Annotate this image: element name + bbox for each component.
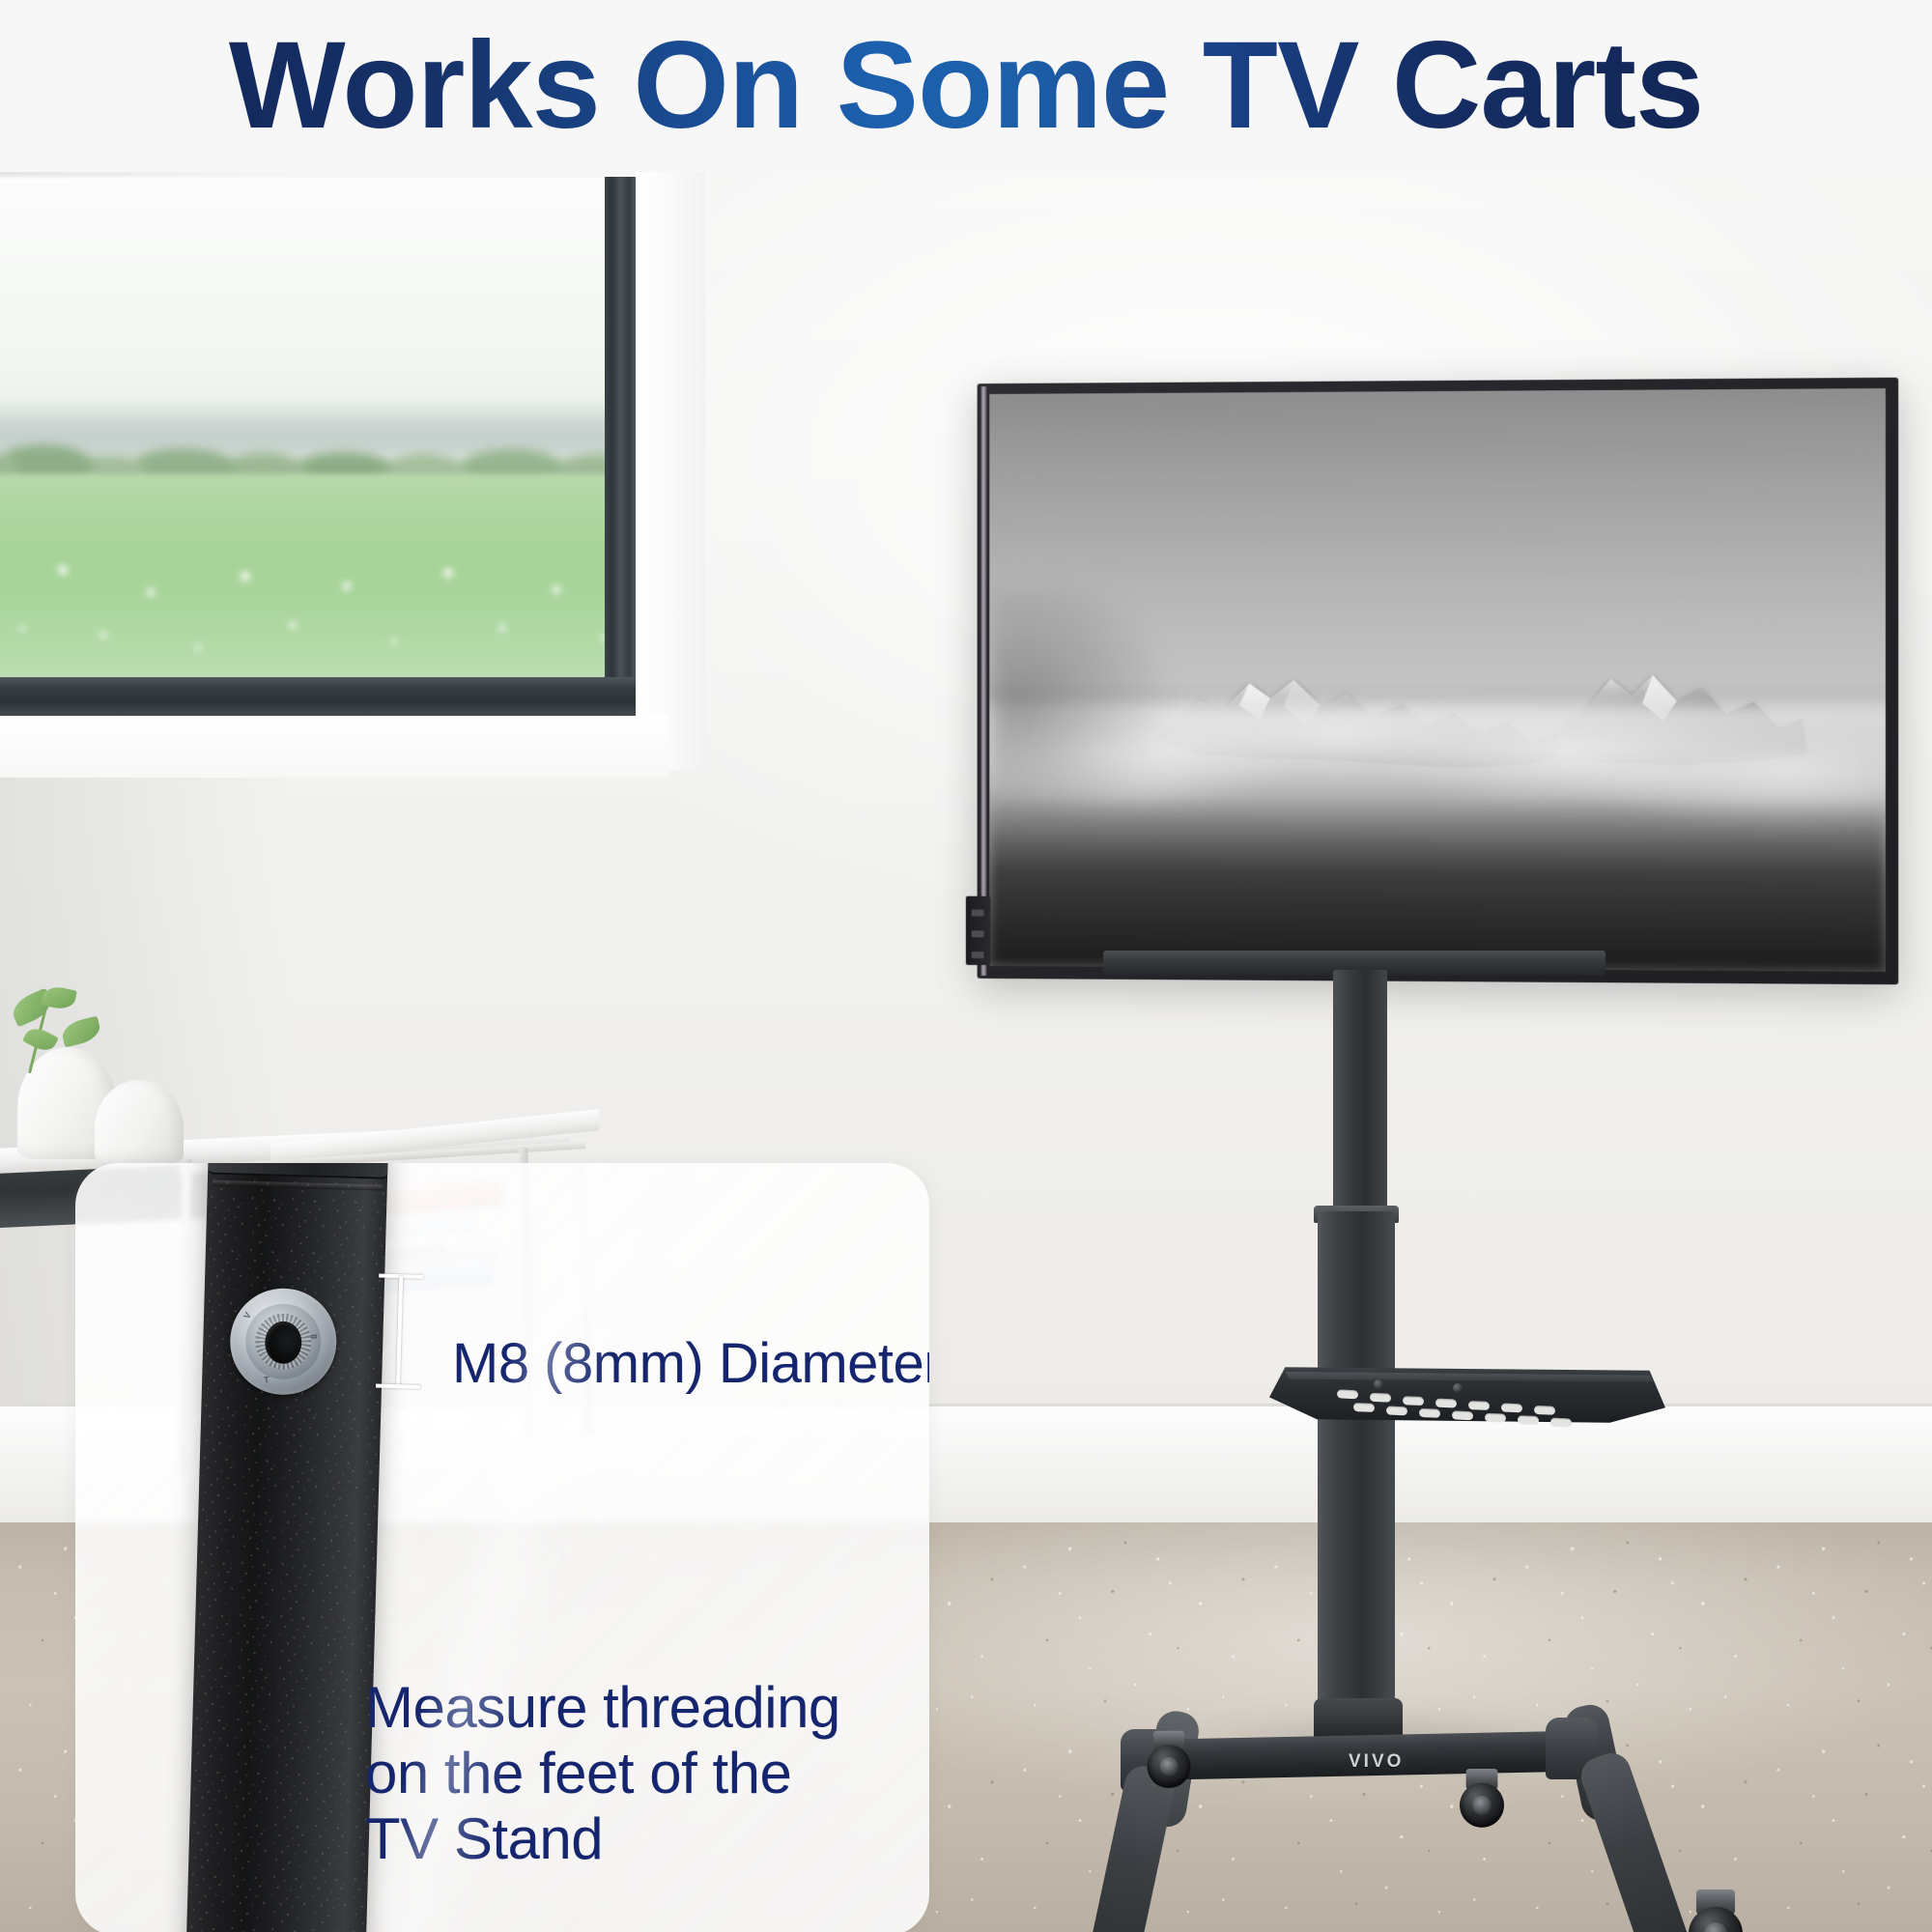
screen-lower-shadow [989, 794, 1886, 972]
shelf-screw [1453, 1383, 1463, 1393]
tube-texture [185, 1163, 388, 1932]
dimension-caliper-icon [376, 1270, 424, 1393]
caster-hub [1159, 1757, 1178, 1776]
instruction-line-1: Measure threading [365, 1675, 840, 1741]
insert-marking: T [264, 1375, 270, 1385]
television [978, 378, 1899, 984]
instruction-text: Measure threading on the feet of the TV … [365, 1675, 840, 1871]
av-shelf [1269, 1366, 1665, 1447]
caster-rear-left [1144, 1731, 1193, 1791]
brand-logo: VIVO [1349, 1751, 1404, 1773]
caster-hub [1472, 1796, 1492, 1815]
column-upper-section [1333, 970, 1387, 1229]
caliper-tick-bottom [376, 1384, 420, 1389]
tv-mount-bracket [966, 896, 990, 965]
instruction-line-2: on the feet of the [365, 1741, 840, 1806]
page-title: Works On Some TV Carts [229, 24, 1703, 148]
caster-front-right [1685, 1889, 1747, 1932]
tv-screen [989, 388, 1886, 972]
callout-card: V 8 T M8 (8mm) Diameter Measure threadin… [75, 1163, 929, 1932]
tv-bezel-highlight [980, 386, 986, 976]
insert-marking: V [241, 1311, 253, 1321]
diameter-label: M8 (8mm) Diameter [452, 1331, 929, 1396]
room-scene: Max Hooper Cla dissolution [0, 172, 1932, 1932]
caster-rear-right [1457, 1769, 1507, 1831]
caliper-bar [396, 1276, 403, 1386]
shelf-screw [1374, 1379, 1383, 1389]
column-lower-section [1318, 1211, 1395, 1774]
stand-leg-closeup: V 8 T [185, 1163, 388, 1932]
insert-marking: 8 [309, 1334, 319, 1340]
headline-band: Works On Some TV Carts [0, 0, 1932, 172]
instruction-line-3: TV Stand [365, 1806, 840, 1872]
product-marketing-image: Max Hooper Cla dissolution [0, 0, 1932, 1932]
